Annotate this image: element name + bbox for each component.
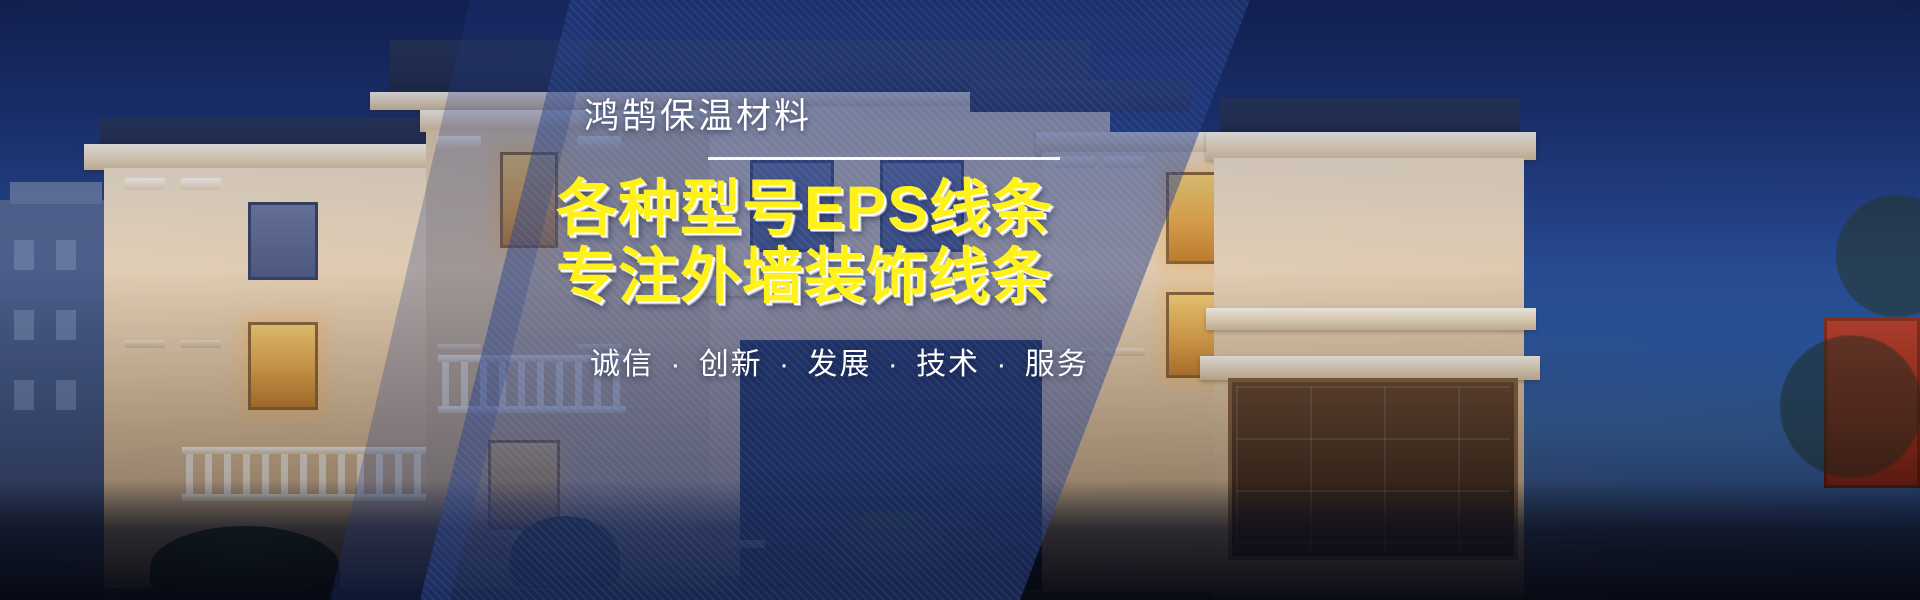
headline-line-1: 各种型号EPS线条 xyxy=(556,174,1076,243)
tagline-separator: · xyxy=(773,348,797,381)
tagline-separator: · xyxy=(990,348,1014,381)
tagline-separator: · xyxy=(664,348,688,381)
tagline-item-1: 诚信 xyxy=(590,348,654,381)
headline-line-2: 专注外墙装饰线条 xyxy=(556,242,1076,311)
tagline-item-2: 创新 xyxy=(699,348,763,381)
title-divider xyxy=(708,157,1060,160)
tagline: 诚信 · 创新 · 发展 · 技术 · 服务 xyxy=(556,339,1076,383)
tagline-separator: · xyxy=(882,348,906,381)
tagline-item-4: 技术 xyxy=(916,348,980,381)
hero-banner: 鸿鹄保温材料 各种型号EPS线条 专注外墙装饰线条 诚信 · 创新 · 发展 ·… xyxy=(0,0,1920,600)
brand-name: 鸿鹄保温材料 xyxy=(556,98,1076,137)
hero-text-block: 鸿鹄保温材料 各种型号EPS线条 专注外墙装饰线条 诚信 · 创新 · 发展 ·… xyxy=(556,98,1076,383)
tagline-item-3: 发展 xyxy=(807,348,871,381)
headline: 各种型号EPS线条 专注外墙装饰线条 xyxy=(556,174,1076,312)
tagline-item-5: 服务 xyxy=(1025,348,1089,381)
